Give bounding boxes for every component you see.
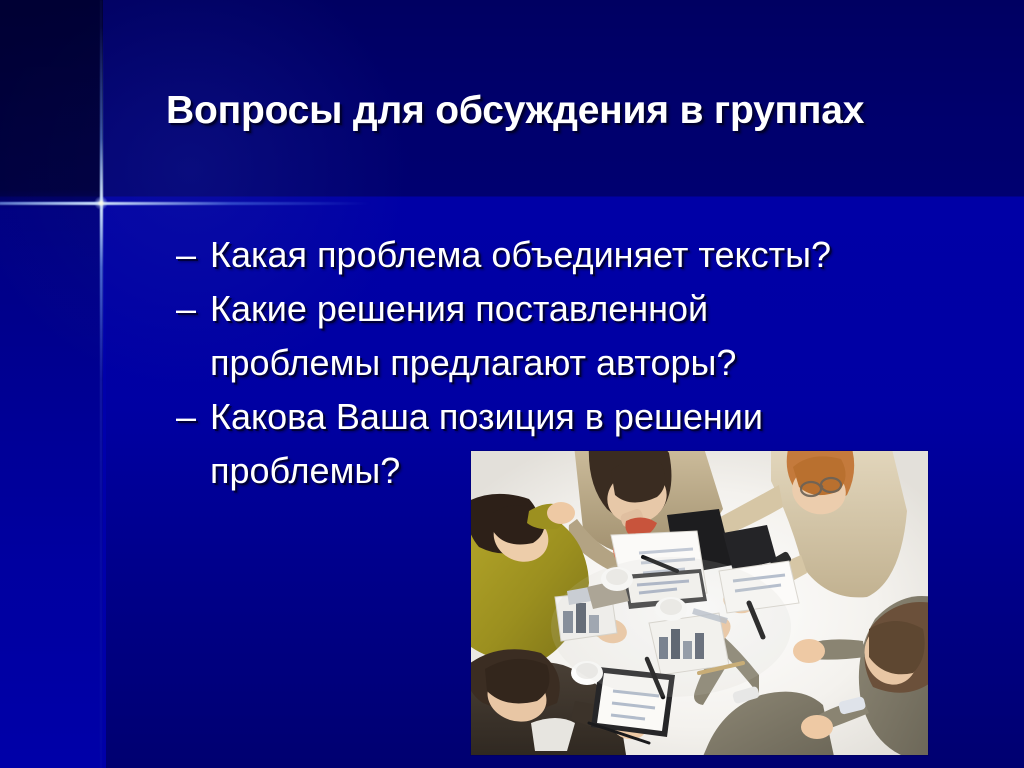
presentation-slide: Вопросы для обсуждения в группах – Какая… [0,0,1024,768]
bullet-dash: – [176,390,210,444]
bullet-dash: – [176,228,210,282]
list-item: – Какие решения поставленной проблемы пр… [176,282,876,390]
bullet-text: Какие решения поставленной проблемы пред… [210,282,876,390]
slide-title: Вопросы для обсуждения в группах [166,90,866,133]
bullet-dash: – [176,282,210,336]
background-left-shade [0,0,103,768]
list-item: – Какая проблема объединяет тексты? [176,228,876,282]
group-meeting-photo [471,451,928,755]
sparkle-ray-horizontal [0,202,371,205]
bullet-text: Какая проблема объединяет тексты? [210,228,876,282]
sparkle-core [92,194,110,212]
group-meeting-illustration [471,451,928,755]
